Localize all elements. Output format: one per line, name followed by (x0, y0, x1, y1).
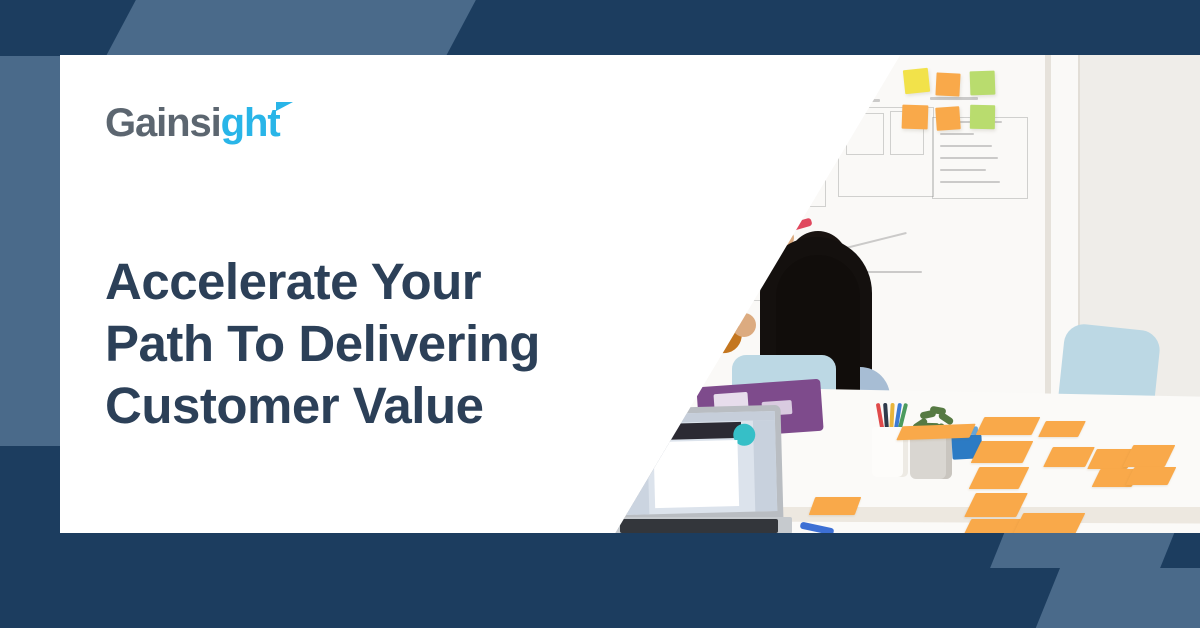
board-sketch-box (768, 111, 826, 207)
headline-line-1: Accelerate Your (105, 253, 481, 310)
logo-text-accent: ght (221, 103, 280, 143)
board-sticky-note (970, 71, 996, 96)
logo-accent-label: ght (221, 101, 280, 145)
screen-document (653, 440, 739, 508)
page-title: Accelerate Your Path To Delivering Custo… (105, 251, 705, 438)
person-face (628, 198, 652, 232)
open-book (507, 509, 571, 533)
board-sticky-note (903, 68, 930, 94)
table-sticky-note (976, 417, 1041, 435)
table-sticky-note (971, 441, 1034, 463)
cable (600, 497, 640, 533)
laptop-keyboard (620, 519, 778, 533)
table-sticky-note (969, 467, 1030, 489)
content-card: Gainsi ght Accelerate Your Path To Deliv… (60, 55, 1200, 533)
whiteboard-frame (1045, 55, 1051, 447)
blue-marker (620, 488, 639, 496)
board-ink (930, 97, 978, 100)
board-sticky-note (935, 106, 961, 131)
decorative-top-parallelogram (105, 0, 477, 58)
table-sticky-note (809, 497, 862, 515)
board-sticky-note (970, 105, 995, 129)
person-hair (586, 173, 642, 231)
table-sticky-note (1038, 421, 1086, 437)
board-ink (940, 169, 986, 171)
board-sticky-note (902, 105, 929, 130)
board-ink (940, 181, 1000, 183)
table-sticky-note (896, 424, 976, 441)
board-ink (940, 133, 974, 135)
person-head (592, 177, 650, 243)
screen-panel (753, 420, 777, 512)
decorative-corner-stripe-front (1036, 568, 1200, 628)
plant-pot (910, 433, 952, 479)
gainsight-logo[interactable]: Gainsi ght (105, 103, 280, 143)
board-ink (940, 145, 992, 147)
open-book (500, 504, 519, 533)
board-ink (840, 99, 880, 102)
decorative-bottom-bar (0, 568, 1200, 628)
board-sketch-box (742, 247, 772, 273)
headline-line-2: Path To Delivering (105, 315, 540, 372)
board-ink (940, 157, 998, 159)
board-sticky-note (935, 72, 960, 96)
person-hand (732, 313, 756, 337)
board-ink (680, 103, 724, 106)
table-sticky-note (1013, 513, 1086, 533)
board-sketch-box (710, 277, 742, 301)
headline-line-3: Customer Value (105, 377, 483, 434)
board-ink (740, 99, 798, 102)
cable (554, 475, 600, 501)
decorative-left-parallelogram (0, 56, 65, 446)
open-book (500, 500, 518, 518)
table-sticky-note (1126, 467, 1177, 485)
marketing-banner: Gainsi ght Accelerate Your Path To Deliv… (0, 0, 1200, 628)
board-ink (612, 113, 662, 116)
logo-swoosh-icon (276, 102, 293, 111)
board-ink (620, 151, 660, 154)
logo-text-primary: Gainsi (105, 103, 221, 143)
wristwatch (717, 316, 734, 340)
board-sketch-box (696, 117, 756, 169)
pen-group (878, 403, 904, 429)
